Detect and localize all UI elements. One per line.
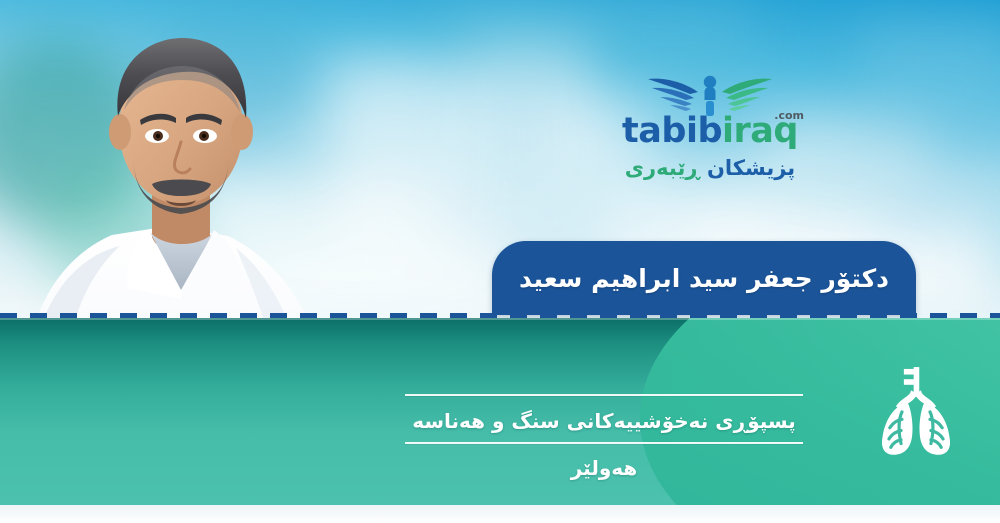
doctor-name-banner: دکتۆر جعفر سید ابراهیم سعید (492, 241, 916, 315)
lungs-icon (860, 354, 972, 466)
logo-wordmark: tabibiraq .com (612, 114, 808, 149)
doctor-profile-banner: tabibiraq .com پزیشکان ڕێبەری (0, 0, 1000, 523)
logo-word-tabib: tabib (622, 111, 722, 151)
panel-top-highlight (0, 318, 1000, 320)
specialty-rule-top (405, 394, 803, 396)
logo-domain-suffix: .com (774, 110, 804, 121)
doctor-name: دکتۆر جعفر سید ابراهیم سعید (519, 264, 889, 293)
info-panel: پسپۆڕی نەخۆشییەکانی سنگ و هەناسە هەولێر (0, 318, 1000, 505)
doctor-city: هەولێر (405, 450, 803, 486)
logo-tagline: پزیشکان ڕێبەری (612, 157, 808, 180)
specialty-rule-bottom (405, 442, 803, 444)
tabibiraq-logo[interactable]: tabibiraq .com پزیشکان ڕێبەری (612, 66, 808, 180)
logo-tagline-blue: پزیشکان (707, 156, 795, 180)
doctor-specialty: پسپۆڕی نەخۆشییەکانی سنگ و هەناسە (405, 400, 803, 442)
logo-tagline-green: ڕێبەری (625, 156, 700, 180)
bottom-strip (0, 505, 1000, 523)
